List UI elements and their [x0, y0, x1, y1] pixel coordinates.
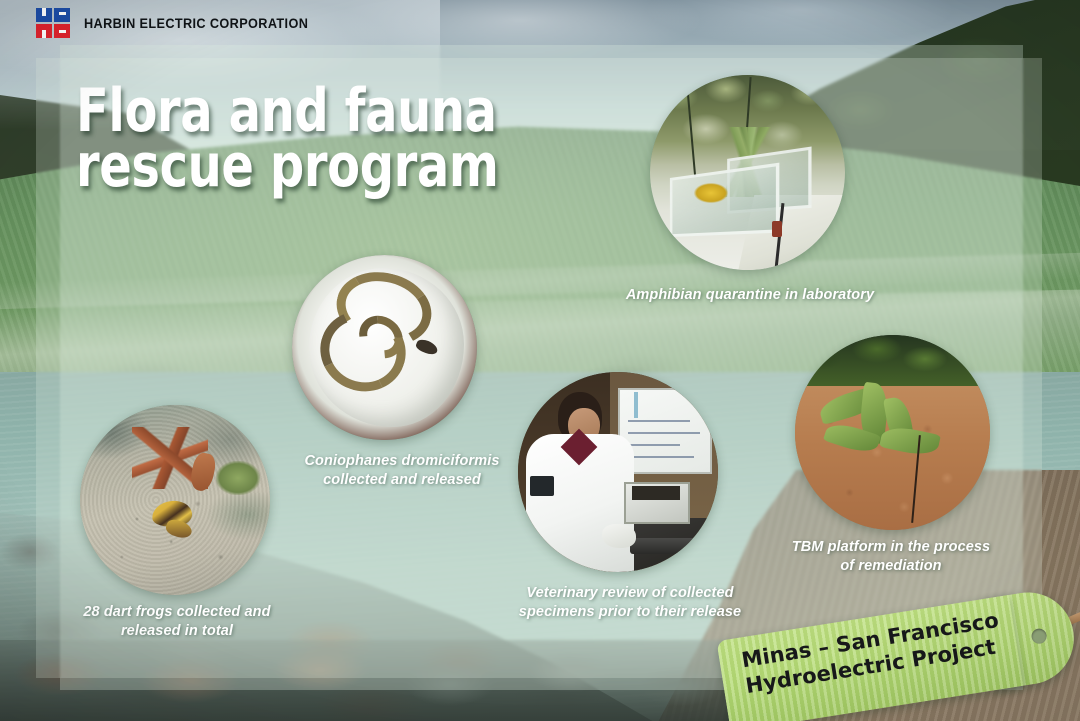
frog-moss-patch	[216, 461, 260, 495]
vet-arm-badge	[530, 476, 554, 496]
harbin-electric-logo-icon	[36, 8, 70, 38]
brand-name: HARBIN ELECTRIC CORPORATION	[84, 16, 308, 31]
photo-snake-coniophanes	[292, 255, 477, 440]
header-bar: HARBIN ELECTRIC CORPORATION	[0, 0, 1080, 46]
caption-tbm-remediation: TBM platform in the process of remediati…	[760, 538, 1022, 575]
lab-yellow-flowers	[694, 183, 728, 203]
caption-veterinary-review: Veterinary review of collected specimens…	[490, 584, 770, 621]
lab-power-plug	[772, 221, 782, 237]
vet-specimen-tray	[632, 486, 680, 500]
photo-veterinary-review	[518, 372, 718, 572]
photo-dart-frog	[80, 405, 270, 595]
tbm-tree-canopy	[795, 335, 990, 390]
vet-gloved-hand	[602, 524, 636, 548]
caption-dart-frog: 28 dart frogs collected and released in …	[52, 603, 302, 640]
vet-digital-scale	[630, 538, 700, 554]
page-title: Flora and fauna rescue program	[76, 84, 524, 194]
caption-snake-coniophanes: Coniophanes dromiciformis collected and …	[282, 452, 522, 489]
caption-amphibian-quarantine: Amphibian quarantine in laboratory	[595, 286, 905, 305]
photo-tbm-remediation	[795, 335, 990, 530]
vet-whiteboard-chart	[634, 392, 668, 418]
photo-amphibian-quarantine	[650, 75, 845, 270]
poster-slide: HARBIN ELECTRIC CORPORATION Flora and fa…	[0, 0, 1080, 721]
